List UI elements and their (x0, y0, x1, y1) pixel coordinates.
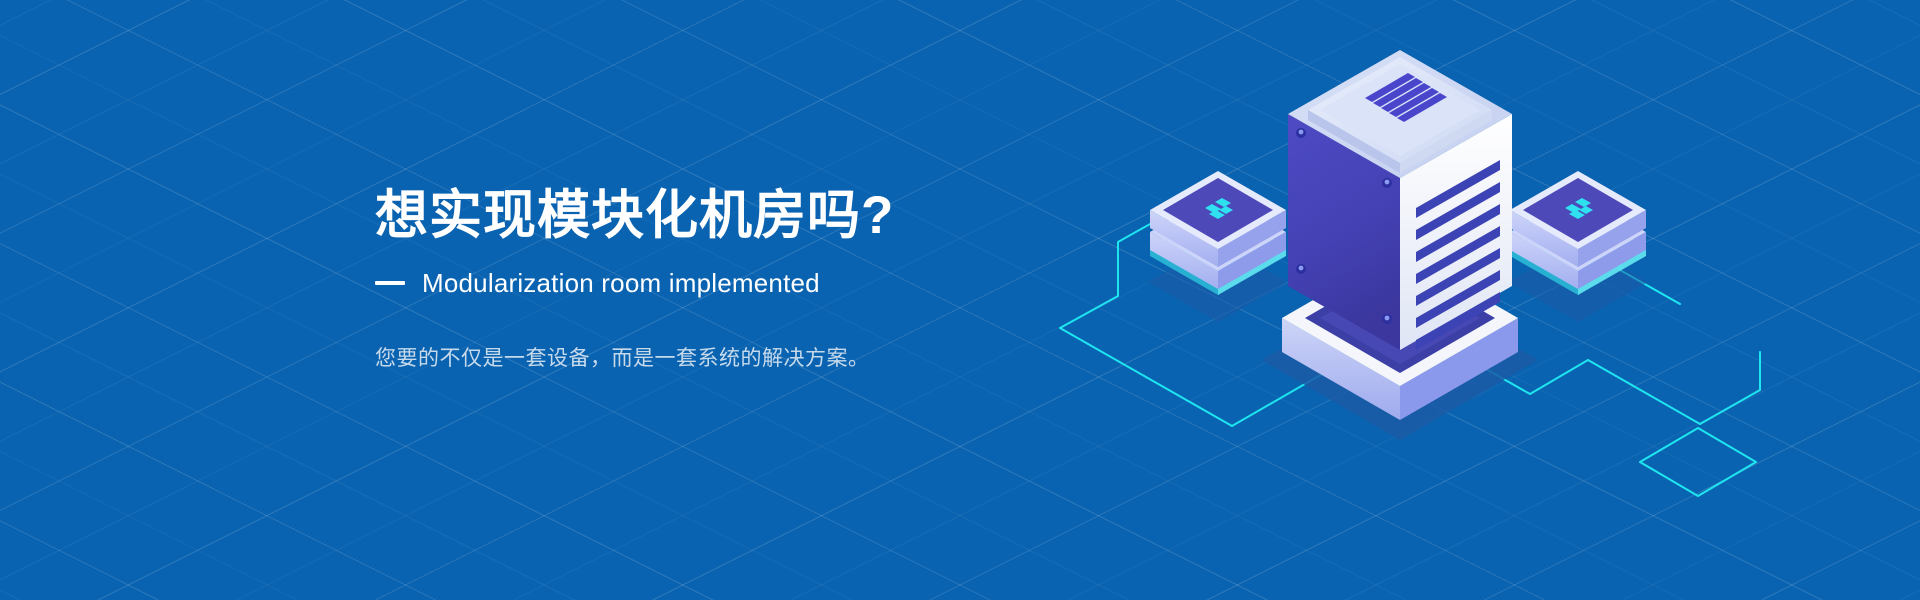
server-tower (1288, 50, 1512, 350)
hero-banner: 想实现模块化机房吗? Modularization room implement… (0, 0, 1920, 600)
chip-module-right (1508, 171, 1648, 322)
dash-icon (375, 281, 405, 285)
chip-module-left (1148, 171, 1288, 322)
banner-copy-block: 想实现模块化机房吗? Modularization room implement… (375, 185, 1095, 374)
subtitle-text: Modularization room implemented (422, 268, 820, 299)
page-title: 想实现模块化机房吗? (375, 185, 1095, 248)
body-description: 您要的不仅是一套设备，而是一套系统的解决方案。 (375, 343, 1095, 375)
isometric-server-room-illustration (1000, 60, 1820, 490)
subtitle-row: Modularization room implemented (375, 268, 1095, 299)
